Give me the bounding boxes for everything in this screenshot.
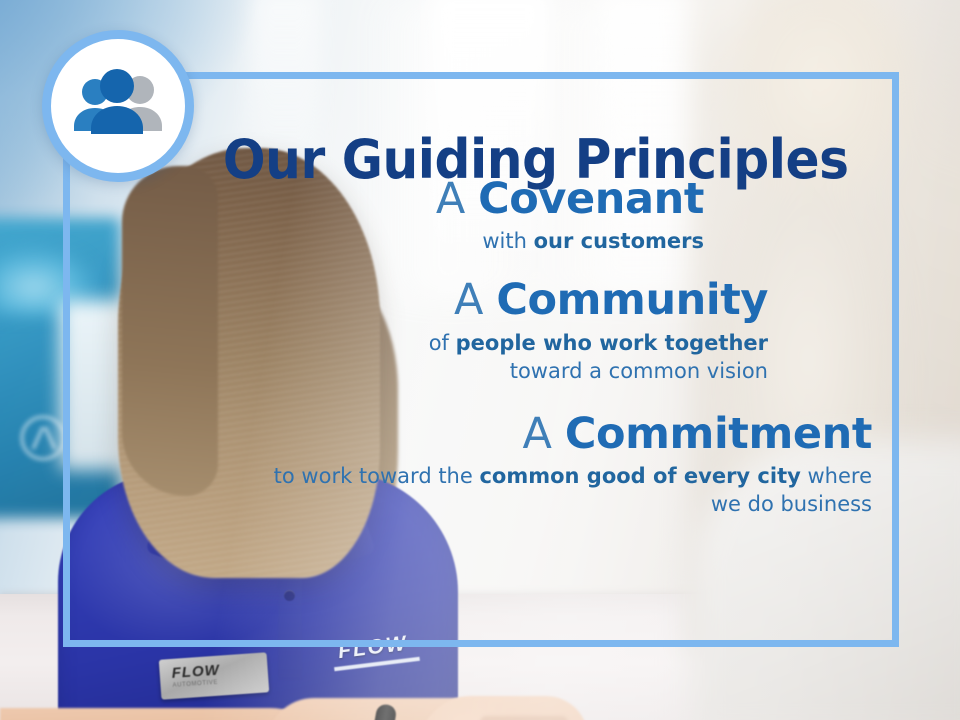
principle-subtitle: to work toward the common good of every … xyxy=(180,462,872,518)
name-badge-brand: FLOW xyxy=(171,662,220,682)
principle-subtitle: with our customers xyxy=(180,227,704,255)
principle-keyword: Community xyxy=(496,275,768,325)
principle-title: A Community xyxy=(180,277,768,324)
guiding-principles-graphic: FLOW AUTOMOTIVE FLOW xyxy=(0,0,960,720)
principle-covenant: A Covenant with our customers xyxy=(180,176,880,255)
finger xyxy=(480,716,568,720)
principle-sub-bold: common good of every city xyxy=(479,464,800,488)
principle-sub-prefix: to work toward the xyxy=(274,464,480,488)
name-badge: FLOW AUTOMOTIVE xyxy=(159,652,270,699)
principle-sub-prefix: of xyxy=(429,331,456,355)
principle-keyword: Covenant xyxy=(478,174,704,224)
principle-commitment: A Commitment to work toward the common g… xyxy=(180,411,880,519)
shirt-button xyxy=(284,590,295,601)
principle-lead: A xyxy=(436,174,478,224)
principle-title: A Covenant xyxy=(180,176,704,223)
principle-keyword: Commitment xyxy=(565,409,872,459)
principle-title: A Commitment xyxy=(180,411,872,458)
principle-sub-bold: people who work together xyxy=(456,331,768,355)
principle-community: A Community of people who work together … xyxy=(180,277,880,385)
principle-sub-prefix: with xyxy=(482,229,533,253)
principle-lead: A xyxy=(523,409,565,459)
principle-sub-bold: our customers xyxy=(534,229,704,253)
principles-list: A Covenant with our customers A Communit… xyxy=(180,176,880,533)
principle-subtitle: of people who work together toward a com… xyxy=(180,329,768,385)
principle-sub-line2: we do business xyxy=(180,490,872,518)
people-group-badge xyxy=(42,30,194,182)
principle-lead: A xyxy=(454,275,496,325)
principle-sub-line2: toward a common vision xyxy=(180,357,768,385)
principle-sub-suffix: where xyxy=(801,464,872,488)
